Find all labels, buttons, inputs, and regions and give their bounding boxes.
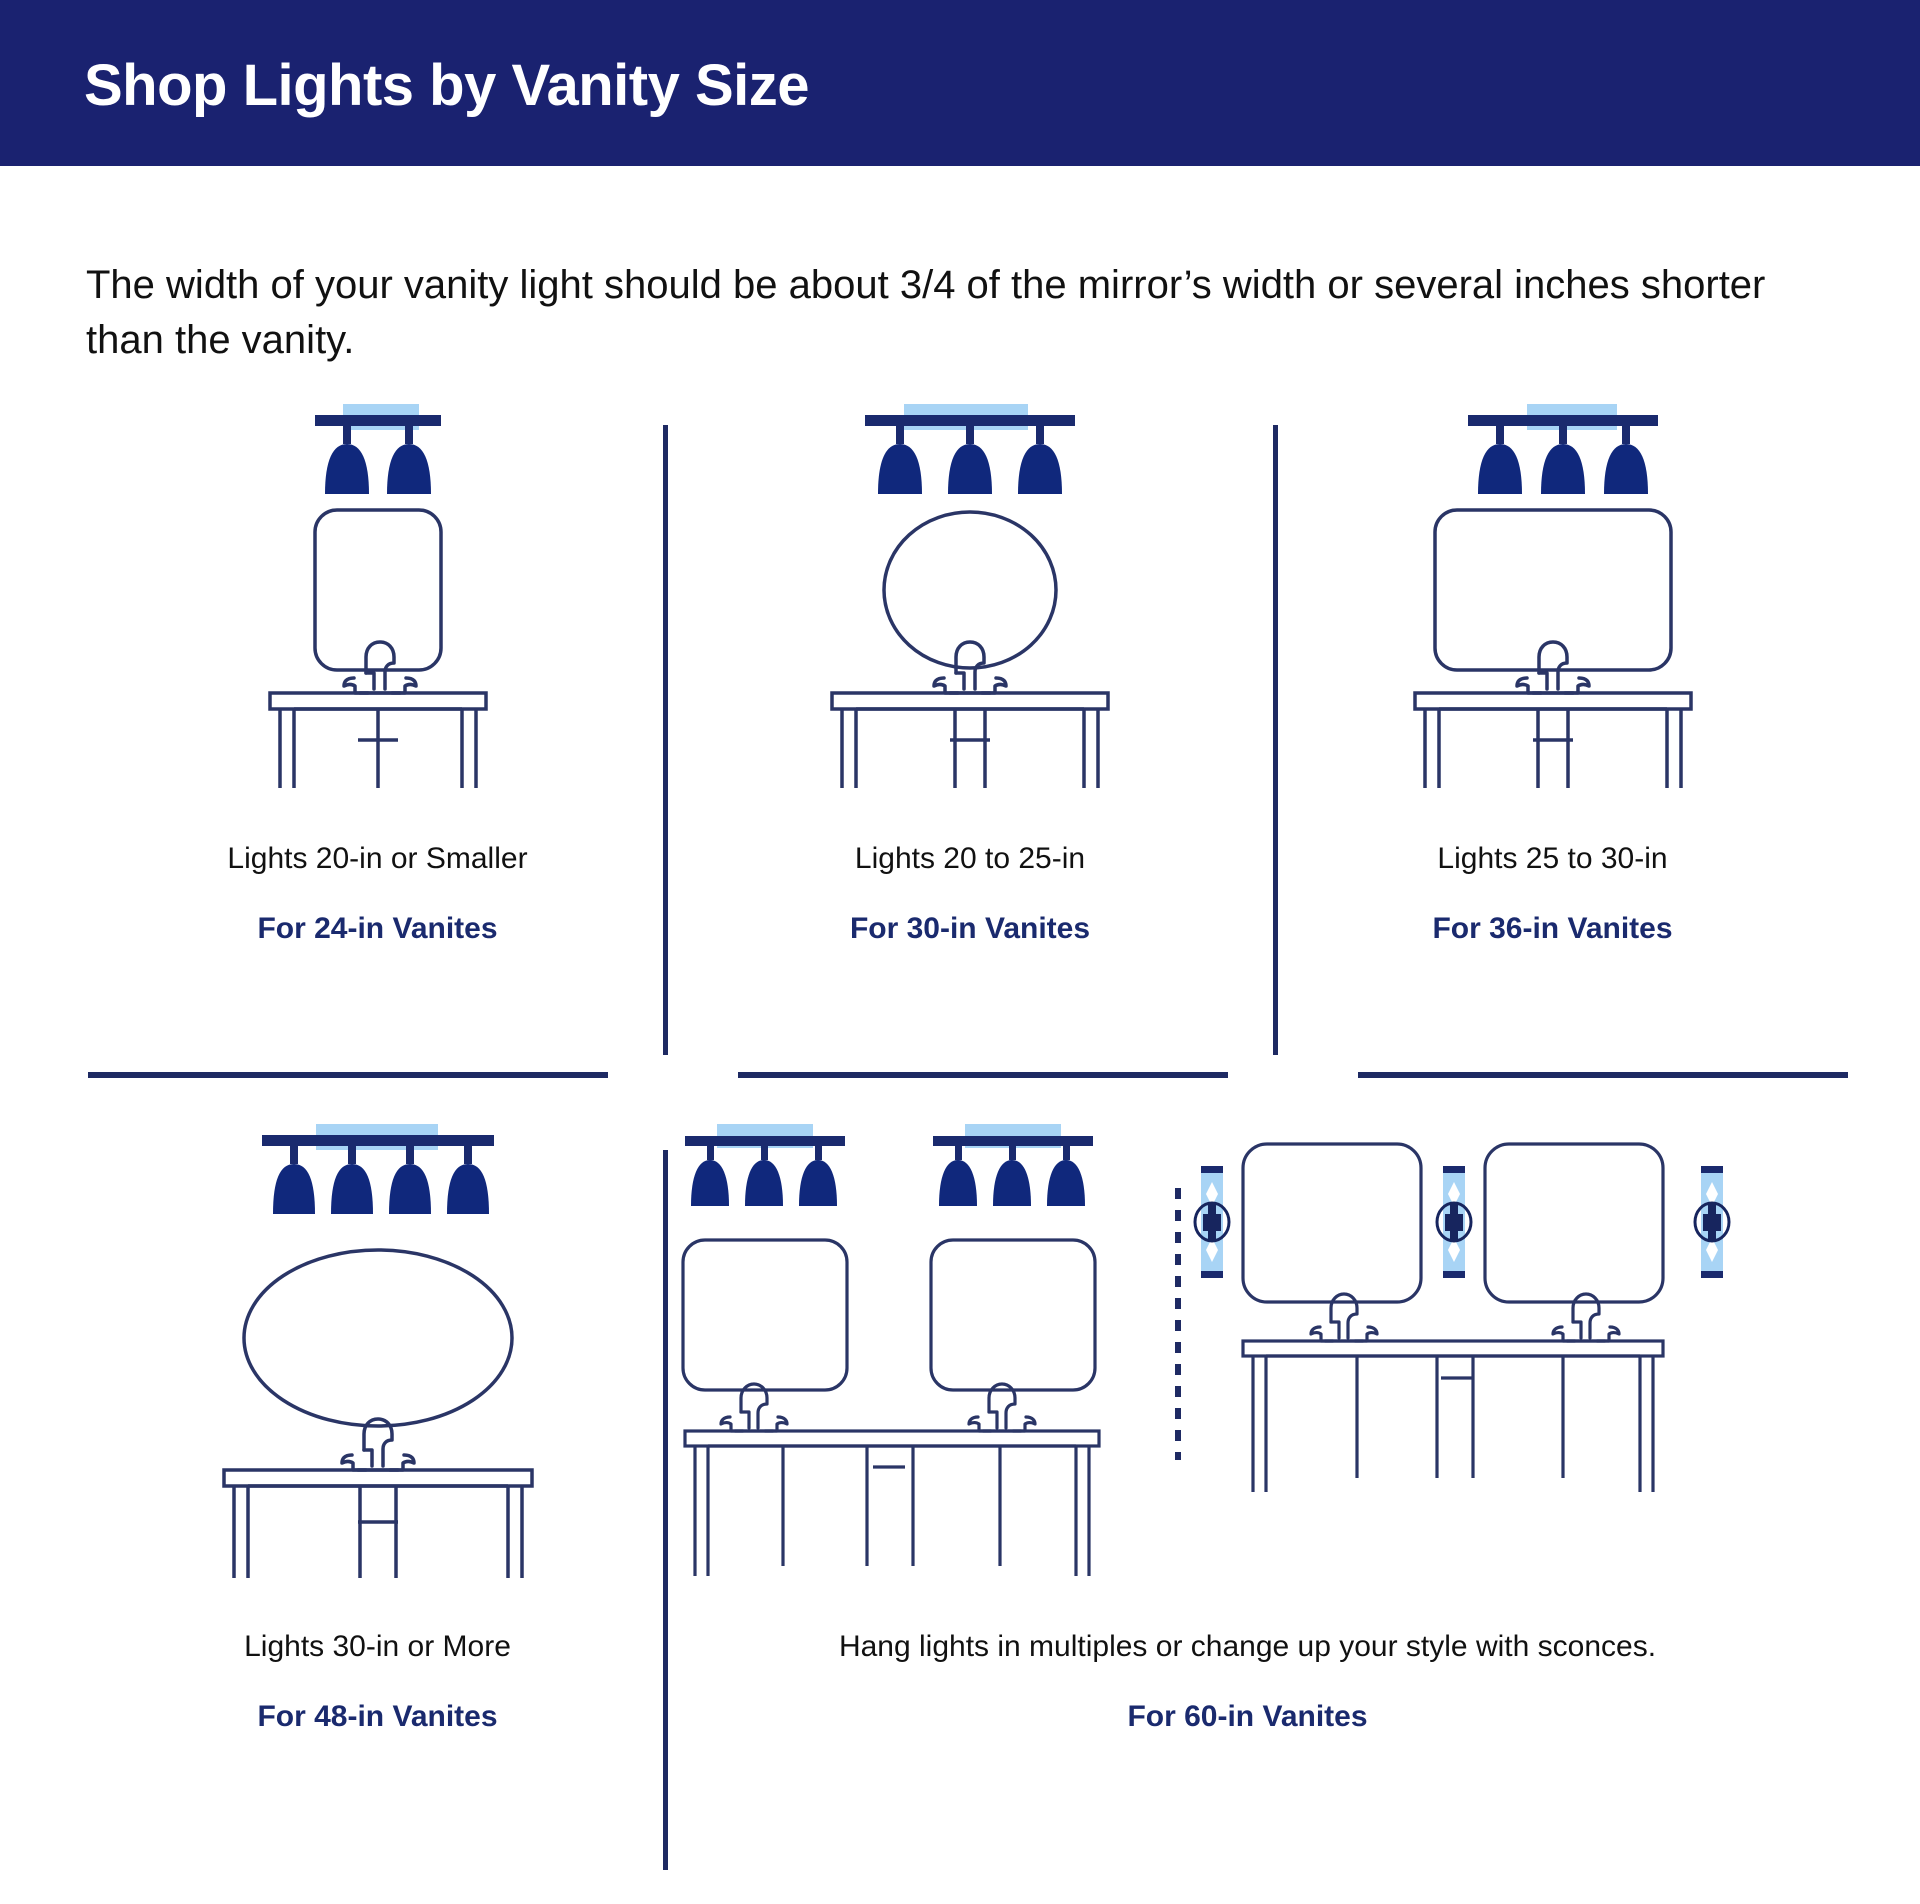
shade-stem [815, 1146, 822, 1160]
shade-stem [1063, 1146, 1070, 1160]
light-shade [745, 1160, 783, 1206]
light-shade [325, 444, 369, 494]
divider-horizontal-3 [1358, 1072, 1848, 1078]
shade-stem [761, 1146, 768, 1160]
panel-36in-vanity-label: For 36-in Vanites [1275, 912, 1830, 946]
panel-30in-vanity-label: For 30-in Vanites [665, 912, 1275, 946]
shade-stem [406, 1146, 414, 1164]
divider-horizontal-2 [738, 1072, 1228, 1078]
shade-stem [1036, 426, 1044, 444]
panel-30in-light-label: Lights 20 to 25-in [665, 842, 1275, 876]
vanity-cabinet [224, 1470, 532, 1578]
panel-24in-vanity-label: For 24-in Vanites [90, 912, 665, 946]
mirror-oval [244, 1250, 512, 1426]
panel-36in: Lights 25 to 30-in For 36-in Vanites [1275, 410, 1830, 1070]
light-shade [799, 1160, 837, 1206]
light-shade [389, 1164, 431, 1214]
light-shade [1478, 444, 1522, 494]
light-shade [1604, 444, 1648, 494]
vanity-illustration-60in-sconces [1185, 1130, 1745, 1580]
shade-stem [896, 426, 904, 444]
light-shade [1018, 444, 1062, 494]
divider-dashed [1175, 1188, 1181, 1460]
vanity-illustration-60in-multiples [675, 1130, 1115, 1580]
panel-36in-light-label: Lights 25 to 30-in [1275, 842, 1830, 876]
panel-60in-caption: Hang lights in multiples or change up yo… [665, 1630, 1830, 1734]
shade-stem [966, 426, 974, 444]
panel-60in-vanity-label: For 60-in Vanites [665, 1700, 1830, 1734]
light-bar [685, 1136, 845, 1146]
faucet-icon [344, 642, 416, 693]
vanity-cabinet [1243, 1341, 1663, 1492]
shade-stem [348, 1146, 356, 1164]
shade-stem [290, 1146, 298, 1164]
light-shade [993, 1160, 1031, 1206]
vanity-illustration-24in [228, 410, 528, 790]
sconce-icon [1195, 1166, 1229, 1278]
light-bar [865, 415, 1075, 426]
mirror-circle [884, 512, 1056, 668]
page-title: Shop Lights by Vanity Size [84, 52, 809, 119]
panel-30in: Lights 20 to 25-in For 30-in Vanites [665, 410, 1275, 1070]
vanity-illustration-36in [1383, 410, 1723, 790]
panel-24in: Lights 20-in or Smaller For 24-in Vanite… [90, 410, 665, 1070]
vanity-cabinet [685, 1431, 1099, 1576]
light-shade [1541, 444, 1585, 494]
light-bar [262, 1135, 494, 1146]
panel-36in-caption: Lights 25 to 30-in For 36-in Vanites [1275, 842, 1830, 946]
panel-30in-caption: Lights 20 to 25-in For 30-in Vanites [665, 842, 1275, 946]
panel-48in-light-label: Lights 30-in or More [90, 1630, 665, 1664]
shade-stem [1622, 426, 1630, 444]
vanity-illustration-30in [800, 410, 1140, 790]
shade-stem [343, 426, 351, 444]
light-shade [273, 1164, 315, 1214]
panel-48in-vanity-label: For 48-in Vanites [90, 1700, 665, 1734]
panel-24in-caption: Lights 20-in or Smaller For 24-in Vanite… [90, 842, 665, 946]
light-bar [1468, 415, 1658, 426]
faucet-icon [1517, 642, 1589, 693]
light-shade [939, 1160, 977, 1206]
panel-48in-illustration [90, 1130, 665, 1580]
panel-48in: Lights 30-in or More For 48-in Vanites [90, 1130, 665, 1900]
light-shade [878, 444, 922, 494]
shade-stem [1009, 1146, 1016, 1160]
light-shade [1047, 1160, 1085, 1206]
shade-stem [707, 1146, 714, 1160]
shade-stem [464, 1146, 472, 1164]
light-bar [933, 1136, 1093, 1146]
mirror-rounded-rect [931, 1240, 1095, 1390]
mirror-rounded-rect [1485, 1144, 1663, 1302]
panel-grid: Lights 20-in or Smaller For 24-in Vanite… [0, 410, 1920, 1900]
panel-60in-light-label: Hang lights in multiples or change up yo… [665, 1630, 1830, 1664]
panel-60in: Hang lights in multiples or change up yo… [665, 1130, 1830, 1900]
panel-48in-caption: Lights 30-in or More For 48-in Vanites [90, 1630, 665, 1734]
panel-36in-illustration [1275, 410, 1830, 790]
panel-30in-illustration [665, 410, 1275, 790]
panel-24in-light-label: Lights 20-in or Smaller [90, 842, 665, 876]
intro-paragraph: The width of your vanity light should be… [86, 258, 1806, 368]
shade-stem [405, 426, 413, 444]
divider-horizontal-1 [88, 1072, 608, 1078]
light-shade [447, 1164, 489, 1214]
mirror-rounded-rect [683, 1240, 847, 1390]
panel-24in-illustration [90, 410, 665, 790]
vanity-illustration-48in [198, 1130, 558, 1580]
mirror-rounded-rect [315, 510, 441, 670]
shade-stem [1559, 426, 1567, 444]
light-shade [387, 444, 431, 494]
panel-60in-illustration [665, 1130, 1830, 1580]
shade-stem [1496, 426, 1504, 444]
mirror-rounded-rect [1435, 510, 1671, 670]
mirror-rounded-rect [1243, 1144, 1421, 1302]
light-shade [691, 1160, 729, 1206]
sconce-icon [1437, 1166, 1471, 1278]
shade-stem [955, 1146, 962, 1160]
light-shade [948, 444, 992, 494]
light-shade [331, 1164, 373, 1214]
sconce-icon [1695, 1166, 1729, 1278]
light-bar [315, 415, 441, 426]
